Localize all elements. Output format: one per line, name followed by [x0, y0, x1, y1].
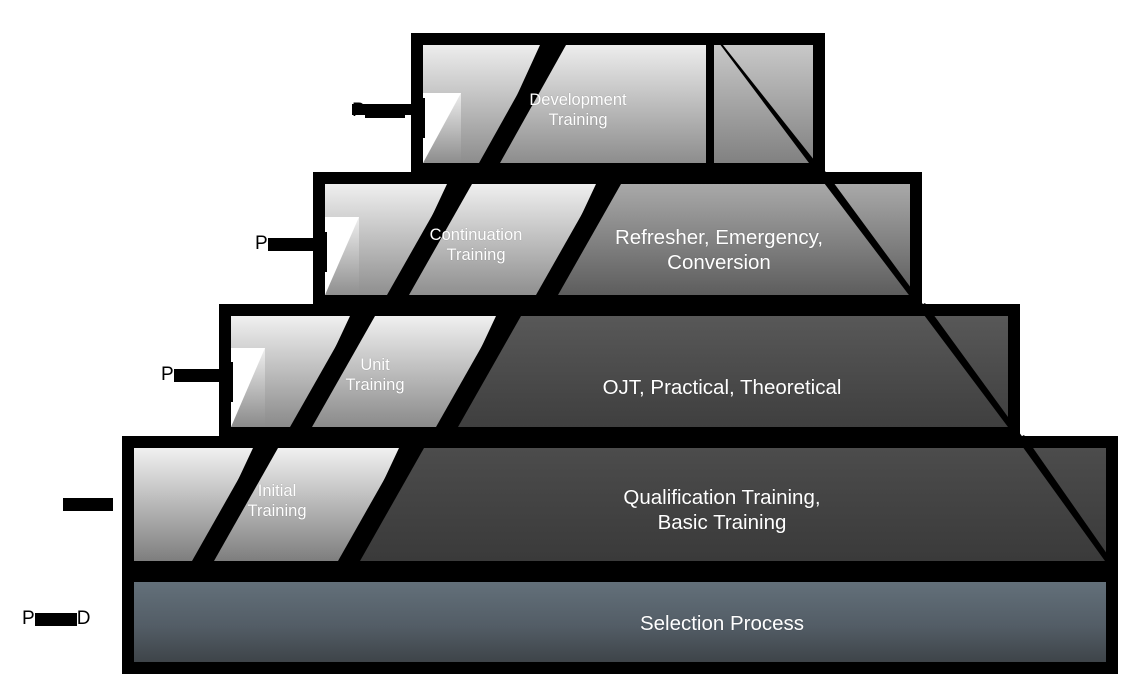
leader-3-line — [176, 369, 232, 380]
leader-5-redaction — [35, 613, 77, 626]
leader-label-initial — [63, 493, 113, 515]
tier-selection — [122, 570, 1118, 674]
leader-2-text: P — [255, 233, 268, 255]
tier-unit — [219, 303, 1024, 439]
tier-continuation — [313, 171, 925, 307]
tier-development — [411, 33, 826, 175]
leader-label-selection: P D — [22, 608, 90, 630]
leader-1-line — [352, 104, 420, 115]
leader-4-redaction — [63, 498, 113, 511]
training-pyramid-graphic — [0, 0, 1132, 679]
leader-5-text-after: D — [77, 608, 91, 630]
leader-3-text: P — [161, 364, 174, 386]
leader-5-text-before: P — [22, 608, 35, 630]
tier-initial — [122, 435, 1118, 573]
diagram-canvas: Development Training Continuation Traini… — [0, 0, 1132, 679]
leader-2-line — [270, 238, 326, 249]
